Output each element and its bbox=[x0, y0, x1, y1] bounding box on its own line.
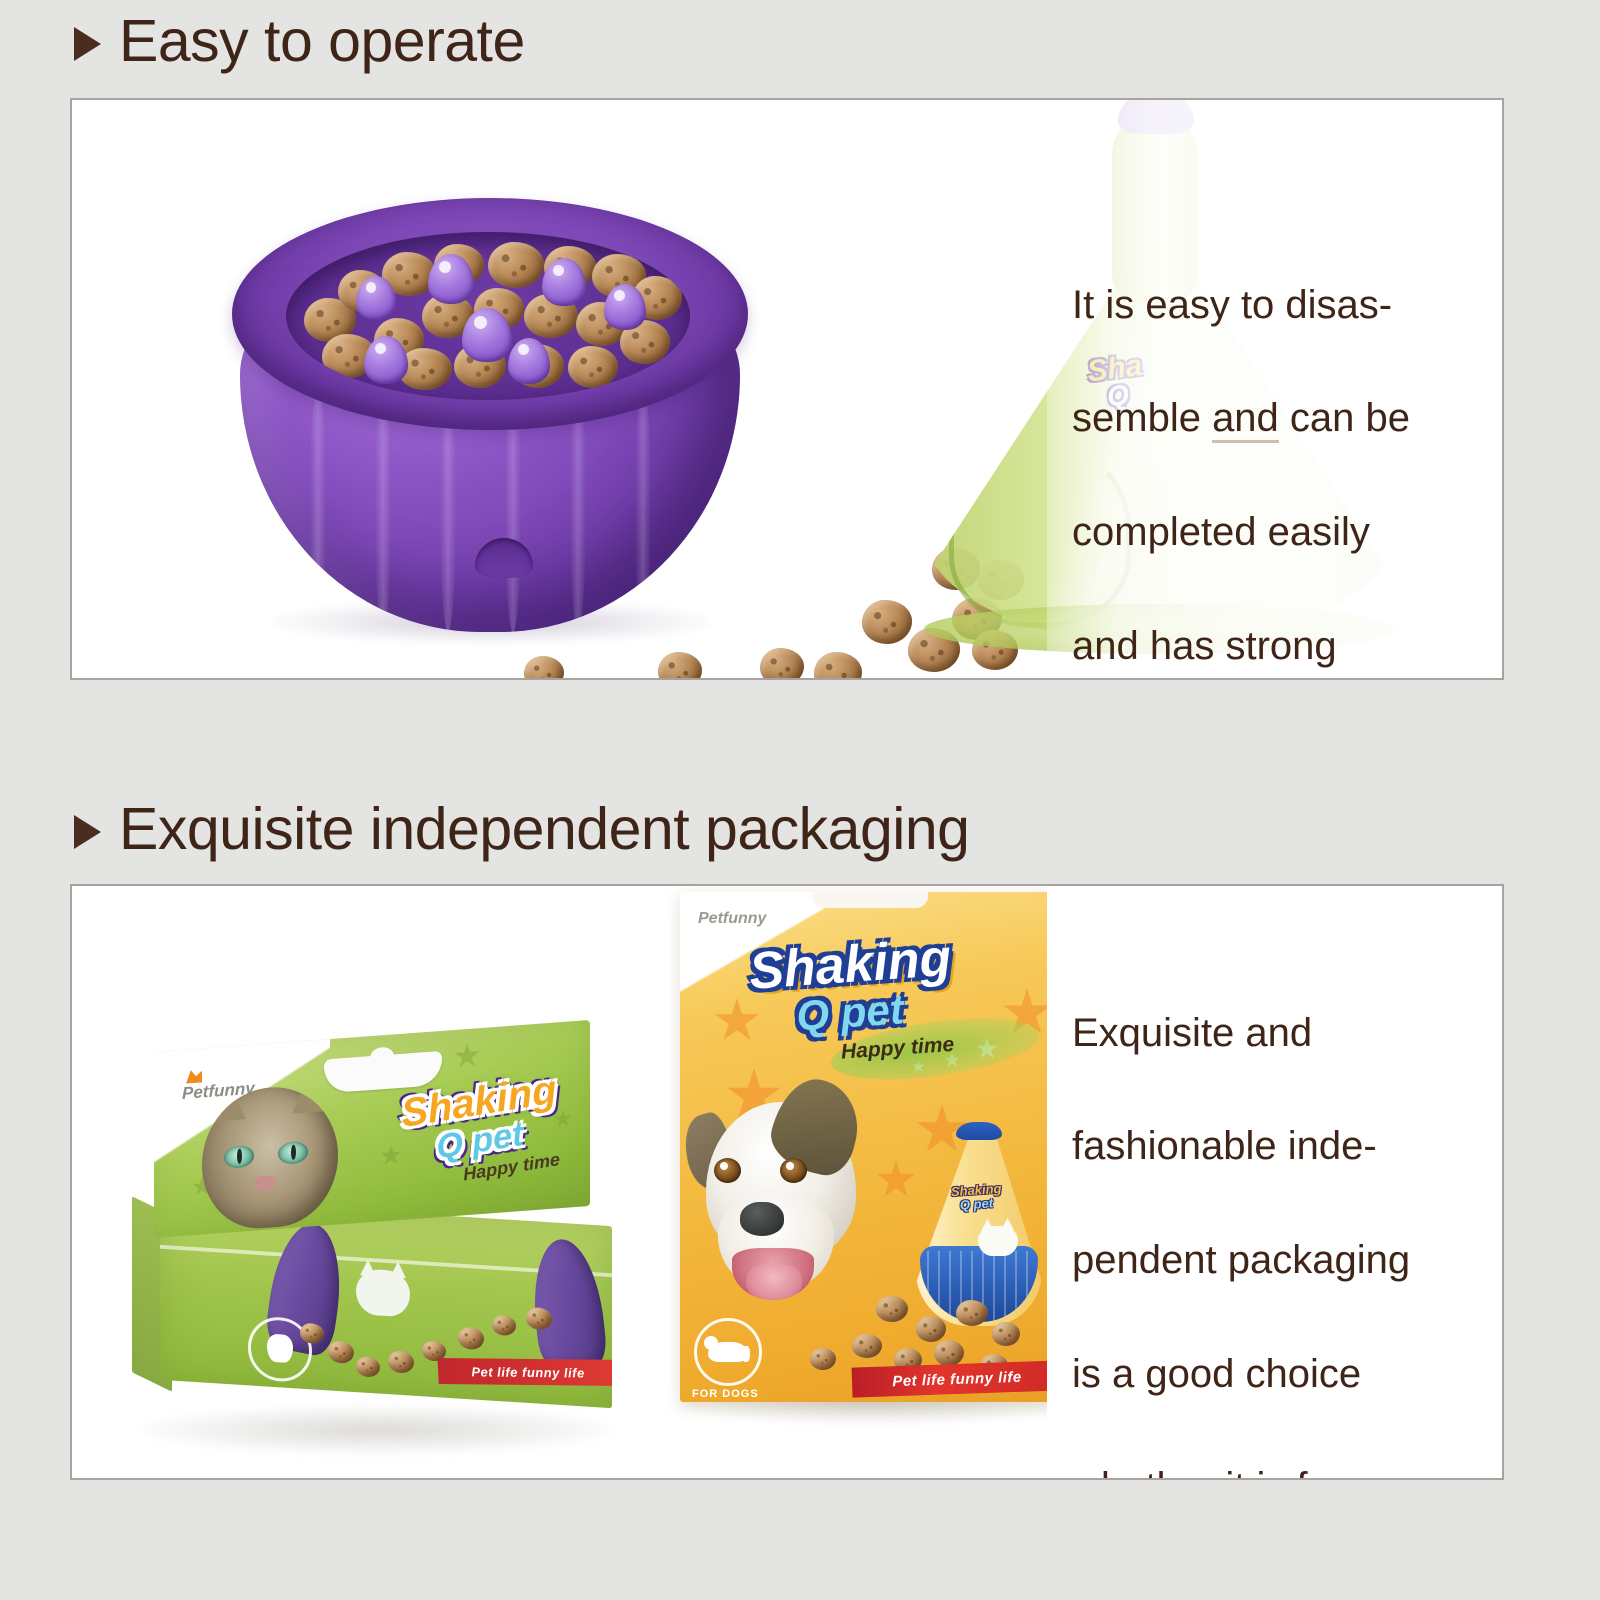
box-top-face: Petfunny Shaking Q pet Happy time bbox=[154, 1020, 590, 1238]
feature-body-text: Exquisite and fashionable inde- pendent … bbox=[1072, 948, 1492, 1480]
body-line: is a good choice bbox=[1072, 1346, 1492, 1403]
feature-body-text: It is easy to disas- semble and can be c… bbox=[1072, 220, 1492, 680]
cat-silhouette-icon bbox=[356, 1268, 410, 1317]
star-icon bbox=[454, 1042, 480, 1070]
section-heading-easy-to-operate: Easy to operate bbox=[74, 12, 525, 71]
body-line: Exquisite and bbox=[1072, 1005, 1492, 1062]
cat-eye bbox=[278, 1141, 308, 1165]
cat-icon bbox=[267, 1334, 293, 1364]
dog-photo bbox=[688, 1092, 878, 1322]
purple-slow-feeder-bowl bbox=[232, 198, 752, 638]
hang-tab bbox=[324, 1051, 442, 1094]
body-line: pendent packaging bbox=[1072, 1232, 1492, 1289]
heading-text: Exquisite independent packaging bbox=[119, 800, 970, 859]
section-heading-exquisite-independent-packaging: Exquisite independent packaging bbox=[74, 800, 970, 859]
star-icon bbox=[380, 1144, 402, 1168]
bowl-interior bbox=[286, 232, 690, 400]
body-line: semble and can be bbox=[1072, 390, 1492, 447]
box-art-cone-right bbox=[527, 1238, 608, 1371]
dog-mouth bbox=[732, 1248, 814, 1300]
underlined-word: and bbox=[1212, 396, 1279, 443]
brand-logo: Petfunny bbox=[698, 910, 766, 928]
for-dogs-badge-label: FOR DOGS bbox=[692, 1388, 759, 1400]
cat-photo bbox=[202, 1082, 338, 1232]
body-line: fashionable inde- bbox=[1072, 1118, 1492, 1175]
heading-text: Easy to operate bbox=[119, 12, 525, 71]
cat-retail-box: Pet life funny life Petfunny bbox=[132, 1036, 632, 1436]
kibble-piece bbox=[814, 652, 862, 680]
body-line: It is easy to disas- bbox=[1072, 277, 1492, 334]
feature-panel-easy-to-operate: Sha Q It is easy to disas- semble and ca… bbox=[70, 98, 1504, 680]
panel-2-photo: Pet life funny life Petfunny bbox=[72, 886, 1502, 1478]
for-dogs-badge bbox=[694, 1318, 762, 1386]
box-art-toy: Shaking Q pet bbox=[910, 1104, 1048, 1322]
hang-tab bbox=[812, 892, 928, 908]
dog-eye bbox=[780, 1158, 807, 1183]
product-feature-page: Easy to operate bbox=[0, 0, 1600, 1600]
body-line: and has strong bbox=[1072, 618, 1492, 675]
kibble-piece bbox=[524, 656, 564, 680]
kibble-piece bbox=[658, 652, 702, 680]
triangle-right-icon bbox=[74, 815, 101, 849]
dog-silhouette-icon bbox=[978, 1226, 1018, 1256]
product-brand-logo: Shaking Q pet Happy time bbox=[400, 1064, 590, 1203]
body-line: completed easily bbox=[1072, 504, 1492, 561]
product-brand-logo: Shaking Q pet Happy time bbox=[747, 926, 1036, 1085]
footer-band: Pet life funny life bbox=[852, 1360, 1062, 1397]
panel-1-photo: Sha Q It is easy to disas- semble and ca… bbox=[72, 100, 1502, 678]
cat-eye bbox=[224, 1145, 254, 1169]
dog-eye bbox=[714, 1158, 741, 1183]
dog-tongue bbox=[746, 1264, 802, 1300]
kibble-piece bbox=[760, 648, 804, 680]
dog-icon bbox=[708, 1342, 748, 1362]
body-line: whether it is for bbox=[1072, 1459, 1492, 1480]
toy-cap bbox=[956, 1122, 1002, 1140]
dog-retail-box: Petfunny Shaking Q pet Happy time bbox=[680, 892, 1062, 1402]
triangle-right-icon bbox=[74, 27, 101, 61]
toy-logo: Shaking Q pet bbox=[951, 1179, 1046, 1231]
cat-nose bbox=[254, 1175, 276, 1192]
footer-band: Pet life funny life bbox=[437, 1358, 612, 1386]
dog-nose bbox=[740, 1202, 784, 1236]
feature-panel-exquisite-independent-packaging: Pet life funny life Petfunny bbox=[70, 884, 1504, 1480]
